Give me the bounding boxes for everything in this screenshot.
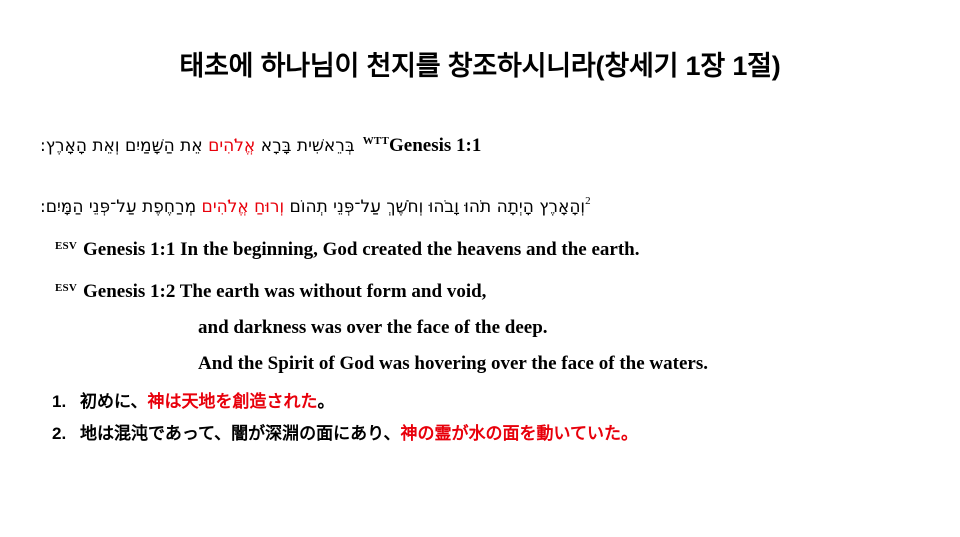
esv-version-label-2: ESV <box>55 282 77 294</box>
hebrew-verse-2-post: מְרַחֶפֶת עַל־פְּנֵי הַמָּיִם: <box>40 197 202 217</box>
list-item-2-highlight: 神の霊が水の面を動いていた。 <box>400 424 638 443</box>
list-item-2-prefix: 地は混沌であって、闇が深淵の面にあり、 <box>80 424 400 443</box>
esv-line-1-text: Genesis 1:1 In the beginning, God create… <box>83 239 639 260</box>
list-item-1-suffix: 。 <box>318 392 335 411</box>
hebrew-verse-1-highlight: אֱלֹהִים <box>208 136 255 156</box>
wtt-reference-text: Genesis 1:1 <box>389 135 481 156</box>
wtt-reference: WTTGenesis 1:1 <box>363 126 482 161</box>
list-item-number-2: 2. <box>52 421 80 447</box>
hebrew-verse-1-post: אֵת הַשָּׁמַיִם וְאֵת הָאָרֶץ: <box>40 136 208 156</box>
esv-line-3-text: and darkness was over the face of the de… <box>198 317 548 338</box>
hebrew-scripture-block: WTTGenesis 1:1בְּרֵאשִׁית בָּרָא אֱלֹהִי… <box>40 126 920 247</box>
list-item: 1. 初めに、神は天地を創造された。 <box>52 389 932 415</box>
hebrew-verse-2-line: 2וְהָאָרֶץ הָיְתָה תֹהוּ וָבֹהוּ וְחֹשֶׁ… <box>40 186 920 222</box>
slide-canvas: 태초에 하나님이 천지를 창조하시니라(창세기 1장 1절) WTTGenesi… <box>0 0 960 537</box>
wtt-version-label: WTT <box>363 135 389 147</box>
page-title: 태초에 하나님이 천지를 창조하시니라(창세기 1장 1절) <box>0 44 960 83</box>
list-item-text-2: 地は混沌であって、闇が深淵の面にあり、神の霊が水の面を動いていた。 <box>80 421 638 447</box>
hebrew-verse-2-pre: וְהָאָרֶץ הָיְתָה תֹהוּ וָבֹהוּ וְחֹשֶׁך… <box>284 197 585 217</box>
esv-line-2-text: Genesis 1:2 The earth was without form a… <box>83 281 486 302</box>
list-item-1-prefix: 初めに、 <box>80 392 148 411</box>
esv-line-1: ESVGenesis 1:1 In the beginning, God cre… <box>55 234 935 262</box>
hebrew-verse-2-highlight: וְרוּחַ אֱלֹהִים <box>202 197 285 217</box>
list-item-1-highlight: 神は天地を創造された <box>148 392 318 411</box>
list-item-number-1: 1. <box>52 389 80 415</box>
esv-line-4: And the Spirit of God was hovering over … <box>198 352 935 376</box>
list-item: 2. 地は混沌であって、闇が深淵の面にあり、神の霊が水の面を動いていた。 <box>52 421 932 447</box>
esv-version-label-1: ESV <box>55 240 77 252</box>
list-item-text-1: 初めに、神は天地を創造された。 <box>80 389 335 415</box>
hebrew-verse-1-line: WTTGenesis 1:1בְּרֵאשִׁית בָּרָא אֱלֹהִי… <box>40 126 920 161</box>
esv-line-2: ESVGenesis 1:2 The earth was without for… <box>55 276 935 304</box>
esv-scripture-block: ESVGenesis 1:1 In the beginning, God cre… <box>55 234 935 390</box>
hebrew-verse-1-pre: בְּרֵאשִׁית בָּרָא <box>255 136 354 156</box>
japanese-translation-list: 1. 初めに、神は天地を創造された。 2. 地は混沌であって、闇が深淵の面にあり… <box>52 389 932 453</box>
esv-line-3: and darkness was over the face of the de… <box>198 316 935 340</box>
esv-line-4-text: And the Spirit of God was hovering over … <box>198 353 708 374</box>
hebrew-verse-2-number: 2 <box>585 186 591 216</box>
